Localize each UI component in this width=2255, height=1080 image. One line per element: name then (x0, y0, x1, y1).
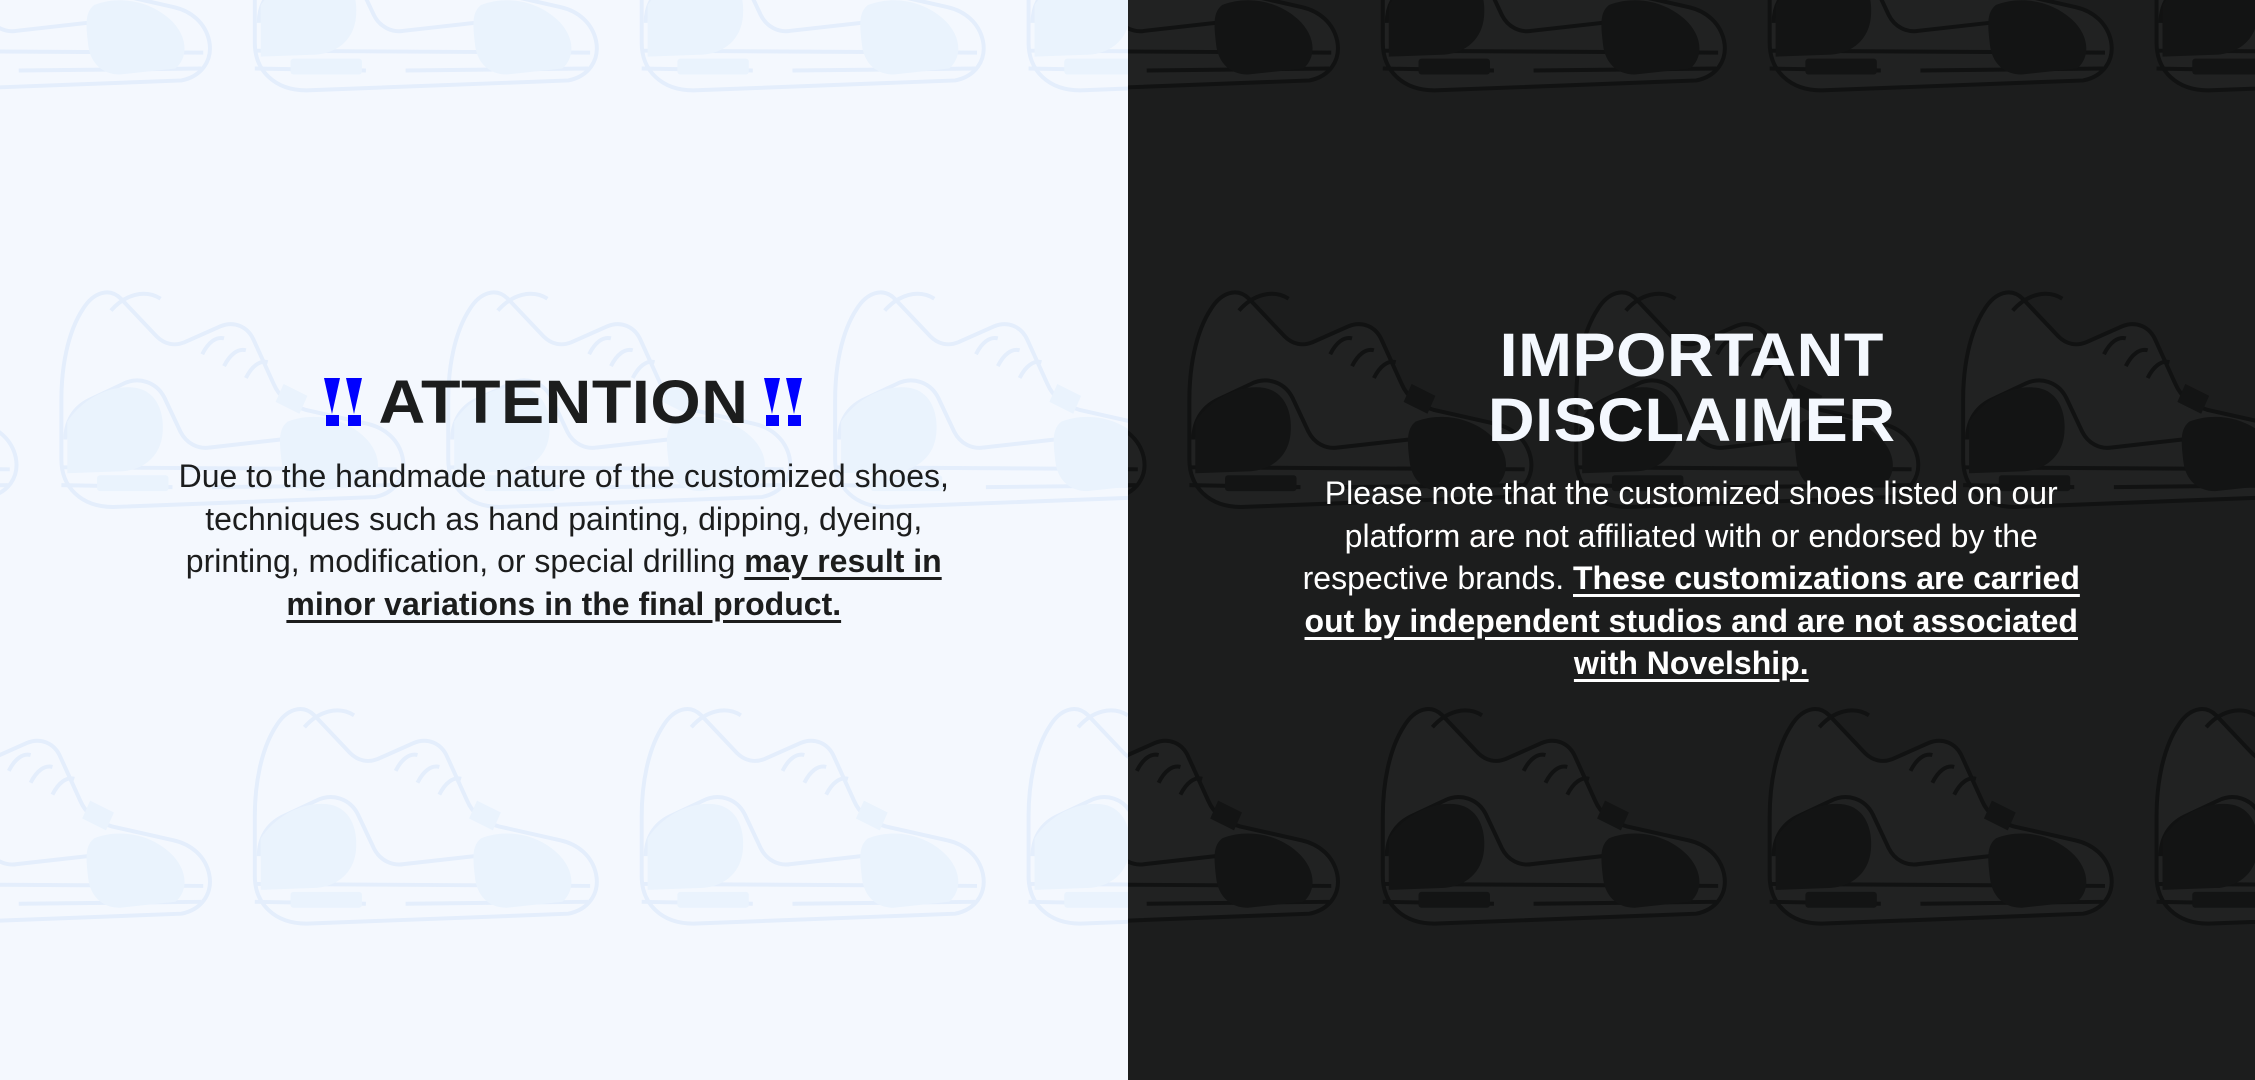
attention-heading: ATTENTION (379, 371, 749, 433)
double-exclamation-icon-right (764, 378, 803, 426)
disclaimer-content: IMPORTANT DISCLAIMER Please note that th… (1128, 323, 2255, 685)
double-exclamation-icon-left (324, 378, 363, 426)
attention-heading-row: ATTENTION (40, 371, 1088, 433)
attention-panel: ATTENTION Due to the handmade nature of … (0, 0, 1128, 1080)
disclaimer-banner: ATTENTION Due to the handmade nature of … (0, 0, 2255, 1080)
disclaimer-heading: IMPORTANT DISCLAIMER (1136, 323, 2246, 452)
attention-body: Due to the handmade nature of the custom… (164, 455, 964, 625)
disclaimer-heading-line-2: DISCLAIMER (1487, 386, 1895, 454)
disclaimer-panel: IMPORTANT DISCLAIMER Please note that th… (1128, 0, 2255, 1080)
disclaimer-body: Please note that the customized shoes li… (1286, 472, 2096, 685)
attention-content: ATTENTION Due to the handmade nature of … (0, 371, 1128, 625)
disclaimer-heading-line-1: IMPORTANT (1499, 321, 1883, 389)
